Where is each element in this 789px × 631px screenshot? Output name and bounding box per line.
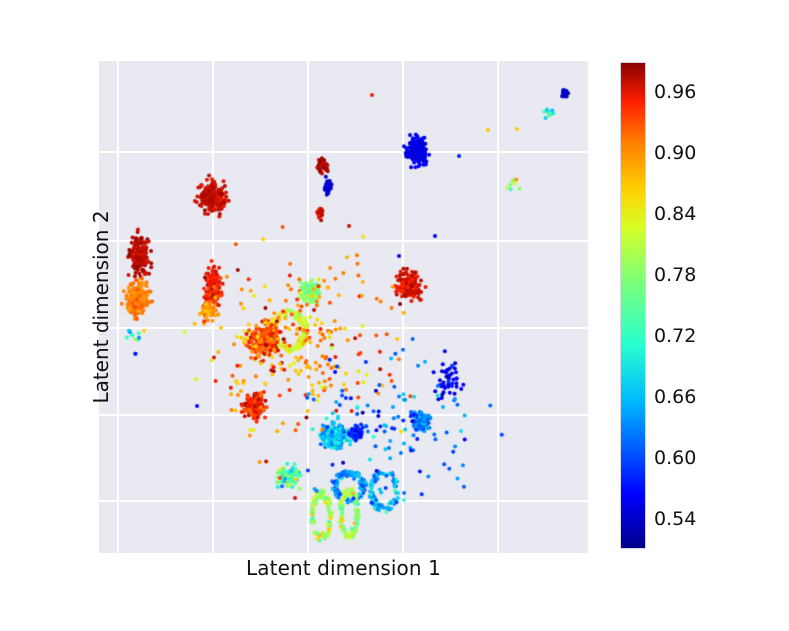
colorbar-tick-0-96: 0.96 bbox=[654, 81, 696, 103]
scatter-points-canvas bbox=[99, 61, 588, 553]
colorbar-tick-0-84: 0.84 bbox=[654, 203, 696, 225]
scatter-plot-area bbox=[99, 61, 588, 553]
colorbar-tick-0-78: 0.78 bbox=[654, 264, 696, 286]
colorbar-tick-0-66: 0.66 bbox=[654, 386, 696, 408]
colorbar-tick-0-54: 0.54 bbox=[654, 508, 696, 530]
colorbar-tick-0-72: 0.72 bbox=[654, 325, 696, 347]
x-axis-label: Latent dimension 1 bbox=[99, 556, 588, 580]
colorbar-tick-0-90: 0.90 bbox=[654, 142, 696, 164]
figure-root: Latent dimension 1 Latent dimension 2 0.… bbox=[0, 0, 789, 631]
colorbar-gradient bbox=[620, 62, 646, 549]
colorbar: 0.960.900.840.780.720.660.600.54 bbox=[620, 62, 780, 549]
colorbar-tick-0-60: 0.60 bbox=[654, 447, 696, 469]
y-axis-label: Latent dimension 2 bbox=[88, 61, 114, 553]
colorbar-tick-labels: 0.960.900.840.780.720.660.600.54 bbox=[646, 62, 776, 549]
y-axis-label-wrap: Latent dimension 2 bbox=[62, 61, 88, 553]
